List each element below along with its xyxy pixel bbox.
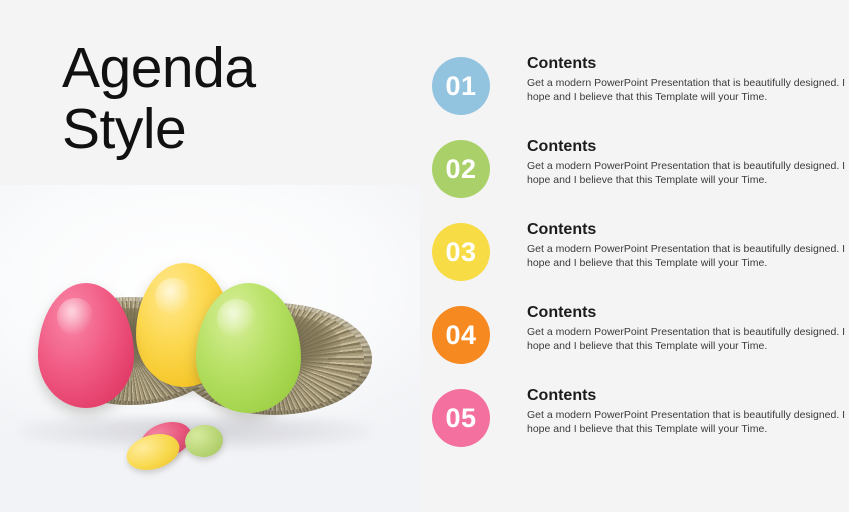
agenda-item-description-05: Get a modern PowerPoint Presentation tha…: [527, 409, 849, 436]
agenda-number-badge-02: 02: [432, 140, 490, 198]
agenda-item-description-02: Get a modern PowerPoint Presentation tha…: [527, 160, 849, 187]
agenda-item-title-04: Contents: [527, 302, 849, 323]
agenda-item-title-01: Contents: [527, 53, 849, 74]
agenda-item-text-02: Contents Get a modern PowerPoint Present…: [527, 136, 849, 187]
agenda-slide: Agenda Style 01 Contents Get a moder: [0, 0, 849, 512]
agenda-item-description-04: Get a modern PowerPoint Presentation tha…: [527, 326, 849, 353]
agenda-item-text-01: Contents Get a modern PowerPoint Present…: [527, 53, 849, 104]
page-title-line-2: Style: [62, 99, 392, 160]
agenda-item-description-01: Get a modern PowerPoint Presentation tha…: [527, 77, 849, 104]
agenda-item-05[interactable]: 05 Contents Get a modern PowerPoint Pres…: [430, 389, 849, 472]
agenda-item-title-02: Contents: [527, 136, 849, 157]
agenda-number-badge-01: 01: [432, 57, 490, 115]
page-title-line-1: Agenda: [62, 38, 392, 99]
agenda-item-text-05: Contents Get a modern PowerPoint Present…: [527, 385, 849, 436]
agenda-list: 01 Contents Get a modern PowerPoint Pres…: [430, 57, 849, 472]
agenda-number-badge-05: 05: [432, 389, 490, 447]
agenda-item-02[interactable]: 02 Contents Get a modern PowerPoint Pres…: [430, 140, 849, 223]
agenda-item-01[interactable]: 01 Contents Get a modern PowerPoint Pres…: [430, 57, 849, 140]
agenda-item-text-04: Contents Get a modern PowerPoint Present…: [527, 302, 849, 353]
agenda-item-description-03: Get a modern PowerPoint Presentation tha…: [527, 243, 849, 270]
agenda-number-badge-04: 04: [432, 306, 490, 364]
easter-eggs-photo: [0, 185, 420, 512]
page-title: Agenda Style: [62, 38, 392, 160]
agenda-item-04[interactable]: 04 Contents Get a modern PowerPoint Pres…: [430, 306, 849, 389]
agenda-item-text-03: Contents Get a modern PowerPoint Present…: [527, 219, 849, 270]
agenda-number-badge-03: 03: [432, 223, 490, 281]
agenda-item-03[interactable]: 03 Contents Get a modern PowerPoint Pres…: [430, 223, 849, 306]
agenda-item-title-05: Contents: [527, 385, 849, 406]
agenda-item-title-03: Contents: [527, 219, 849, 240]
